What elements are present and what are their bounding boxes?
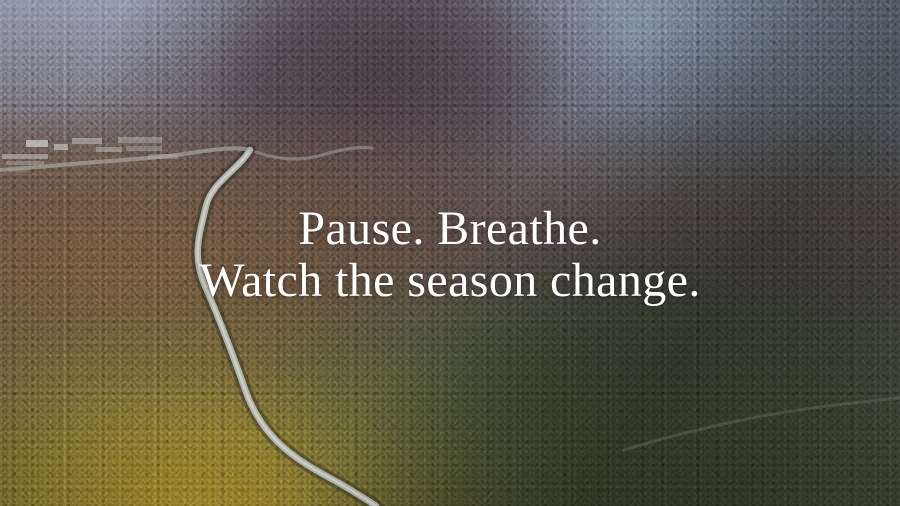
headline-line-1: Pause. Breathe.: [199, 203, 701, 255]
headline-overlay: Pause. Breathe. Watch the season change.: [0, 0, 900, 506]
headline-line-2: Watch the season change.: [199, 255, 701, 307]
photo-scene: Pause. Breathe. Watch the season change.: [0, 0, 900, 506]
headline: Pause. Breathe. Watch the season change.: [199, 203, 701, 307]
